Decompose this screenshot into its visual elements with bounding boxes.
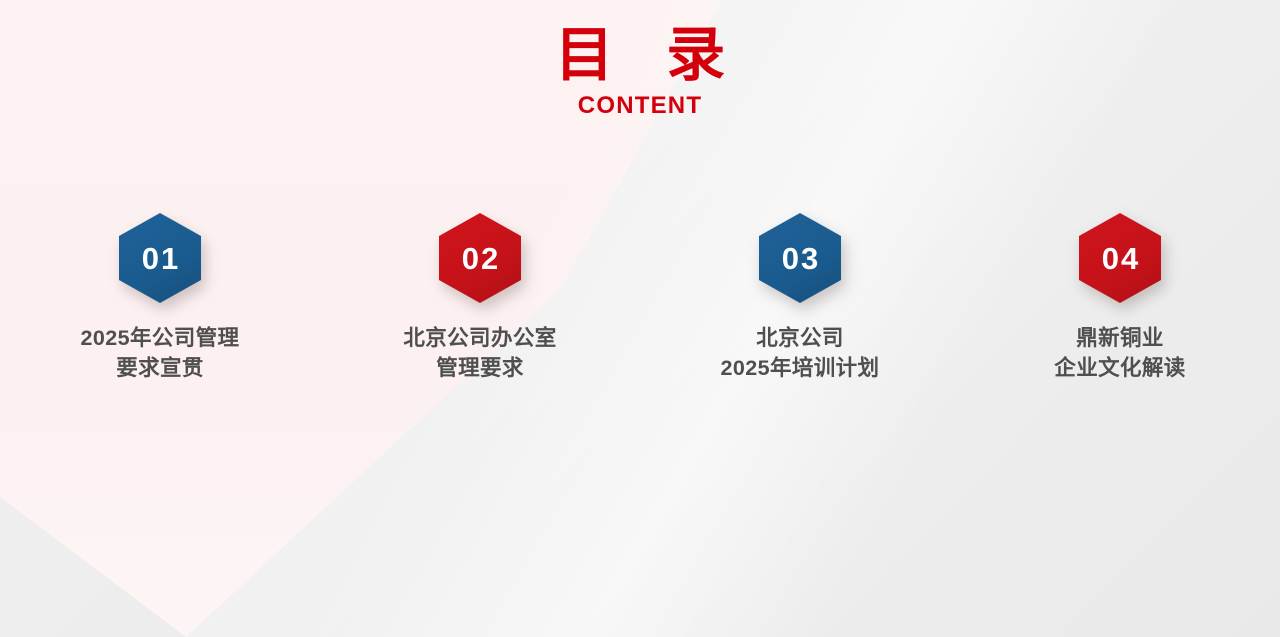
item-caption-line2: 企业文化解读 [1054,353,1185,383]
item-caption-line1: 鼎新铜业 [1076,326,1164,350]
item-number: 01 [140,243,180,274]
item-caption-line2: 2025年培训计划 [721,353,880,383]
content-item-01[interactable]: 01 2025年公司管理 要求宣贯 [0,213,320,383]
slide-header: 目 录 CONTENT [0,22,1280,120]
item-caption-line1: 北京公司 [756,326,844,350]
hexagon-badge-01: 01 [119,213,201,303]
item-caption: 鼎新铜业 企业文化解读 [1054,323,1185,383]
content-item-04[interactable]: 04 鼎新铜业 企业文化解读 [960,213,1280,383]
item-number: 03 [780,243,820,274]
item-caption-line2: 要求宣贯 [81,353,240,383]
hexagon-badge-02: 02 [439,213,521,303]
item-caption-line2: 管理要求 [403,353,556,383]
item-caption-line1: 北京公司办公室 [403,326,556,350]
hexagon-icon: 01 [119,213,201,303]
item-caption: 北京公司办公室 管理要求 [403,323,556,383]
item-caption: 北京公司 2025年培训计划 [721,323,880,383]
hexagon-badge-04: 04 [1079,213,1161,303]
page-subtitle: CONTENT [0,92,1280,120]
content-item-02[interactable]: 02 北京公司办公室 管理要求 [320,213,640,383]
hexagon-badge-03: 03 [759,213,841,303]
content-item-03[interactable]: 03 北京公司 2025年培训计划 [640,213,960,383]
hexagon-icon: 02 [439,213,521,303]
hexagon-icon: 03 [759,213,841,303]
page-title: 目 录 [0,22,1280,88]
hexagon-icon: 04 [1079,213,1161,303]
slide-canvas: 目 录 CONTENT 01 2025年公司管理 要求宣贯 02 北京公司办公室 [0,0,1280,637]
item-number: 02 [460,243,500,274]
item-number: 04 [1100,243,1140,274]
item-caption-line1: 2025年公司管理 [81,326,240,350]
item-caption: 2025年公司管理 要求宣贯 [81,323,240,383]
content-items-row: 01 2025年公司管理 要求宣贯 02 北京公司办公室 管理要求 [0,213,1280,443]
